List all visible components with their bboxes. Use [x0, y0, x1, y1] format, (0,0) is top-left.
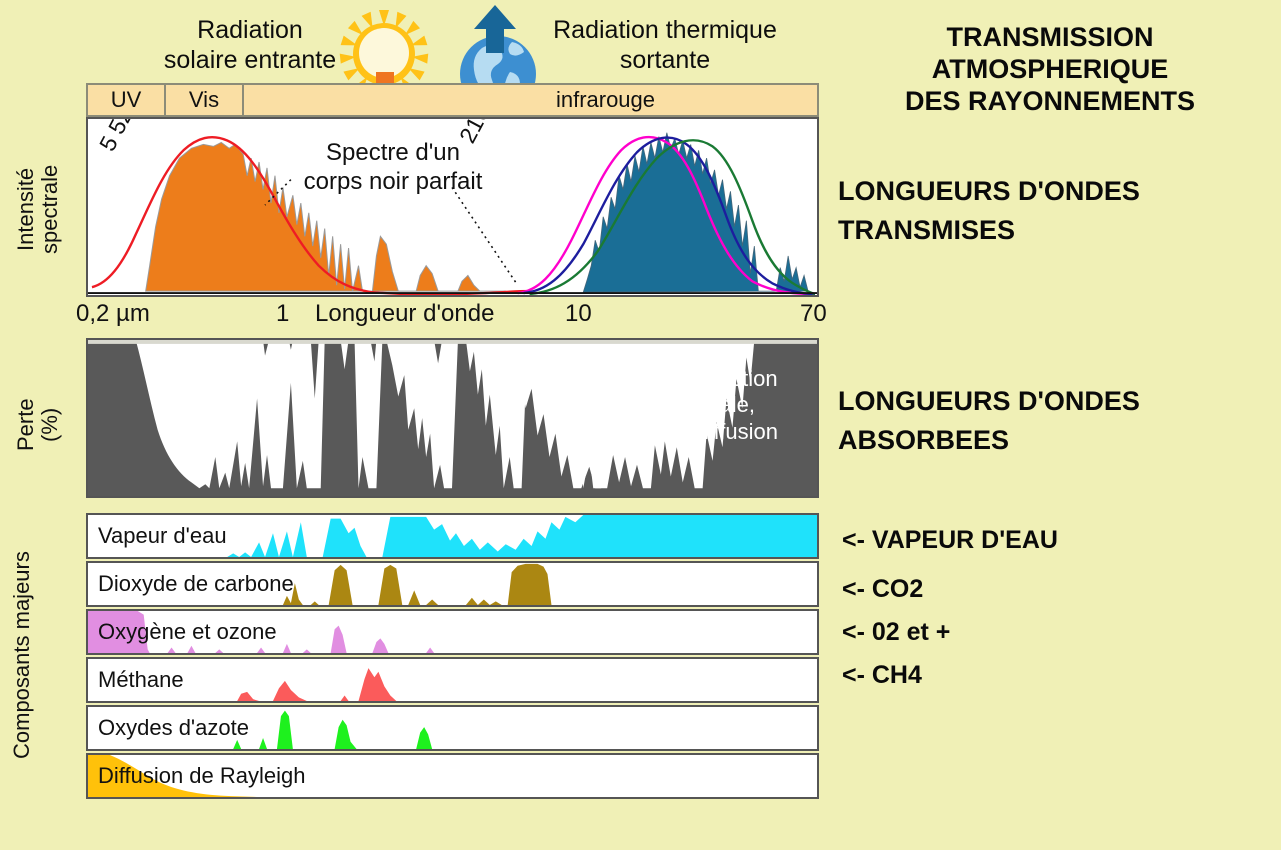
spectral-intensity-panel: 5 525 K 210-310 K Spectre d'un corps noi…	[86, 117, 819, 297]
gas-row-water-vapor: Vapeur d'eau	[86, 513, 819, 559]
x-tick-label-start: 0,2 µm	[76, 300, 150, 328]
x-axis: 0,2 µm 1 Longueur d'onde 10 70	[60, 300, 850, 334]
gas-label-water-vapor: Vapeur d'eau	[98, 523, 227, 549]
gas-row-rayleigh: Diffusion de Rayleigh	[86, 753, 819, 799]
callout-co2: <- CO2	[842, 575, 923, 604]
gas-label-methane: Méthane	[98, 667, 184, 693]
total-absorption-panel	[86, 338, 819, 498]
x-tick-label-ten: 10	[565, 300, 592, 328]
gas-label-carbon-dioxide: Dioxyde de carbone	[98, 571, 294, 597]
gas-label-oxygen-ozone: Oxygène et ozone	[98, 619, 277, 645]
arrow-up-icon	[472, 4, 518, 54]
major-components-panel: Vapeur d'eau Dioxyde de carbone Oxygène …	[86, 513, 819, 801]
gas-label-nitrogen-oxides: Oxydes d'azote	[98, 715, 249, 741]
absorbed-wavelengths-label: LONGUEURS D'ONDES ABSORBEES	[838, 382, 1268, 460]
page-title: TRANSMISSION ATMOSPHERIQUE DES RAYONNEME…	[830, 22, 1270, 118]
gas-row-carbon-dioxide: Dioxyde de carbone	[86, 561, 819, 607]
gas-label-rayleigh: Diffusion de Rayleigh	[98, 763, 306, 789]
callout-ch4: <- CH4	[842, 661, 922, 690]
y-axis-label-composants: Composants majeurs	[10, 505, 44, 805]
outgoing-thermal-label: Radiation thermique sortante	[515, 16, 815, 75]
panel-top-edge	[88, 340, 817, 344]
transmitted-wavelengths-label: LONGUEURS D'ONDES TRANSMISES	[838, 172, 1268, 250]
figure-root: Radiation solaire entrante Radiation the…	[0, 0, 1281, 850]
gas-row-nitrogen-oxides: Oxydes d'azote	[86, 705, 819, 751]
band-vis: Vis	[166, 85, 244, 115]
gas-row-methane: Méthane	[86, 657, 819, 703]
band-infrared: infrarouge	[244, 85, 817, 115]
x-tick-label-end: 70	[800, 300, 827, 328]
spectral-band-strip: UV Vis infrarouge	[86, 83, 819, 117]
band-infrared-label: infrarouge	[556, 87, 655, 113]
callout-o2: <- 02 et +	[842, 618, 950, 647]
y-axis-label-intensity: Intensité spectrale	[14, 124, 68, 294]
x-axis-title: Longueur d'onde	[315, 300, 494, 328]
gas-row-oxygen-ozone: Oxygène et ozone	[86, 609, 819, 655]
y-axis-label-perte: Perte (%)	[14, 360, 68, 490]
band-uv: UV	[88, 85, 166, 115]
blackbody-annotation: Spectre d'un corps noir parfait	[278, 139, 508, 197]
leader-line-right	[452, 187, 518, 285]
callout-water-vapor: <- VAPEUR D'EAU	[842, 526, 1058, 555]
x-tick-label-one: 1	[276, 300, 289, 328]
